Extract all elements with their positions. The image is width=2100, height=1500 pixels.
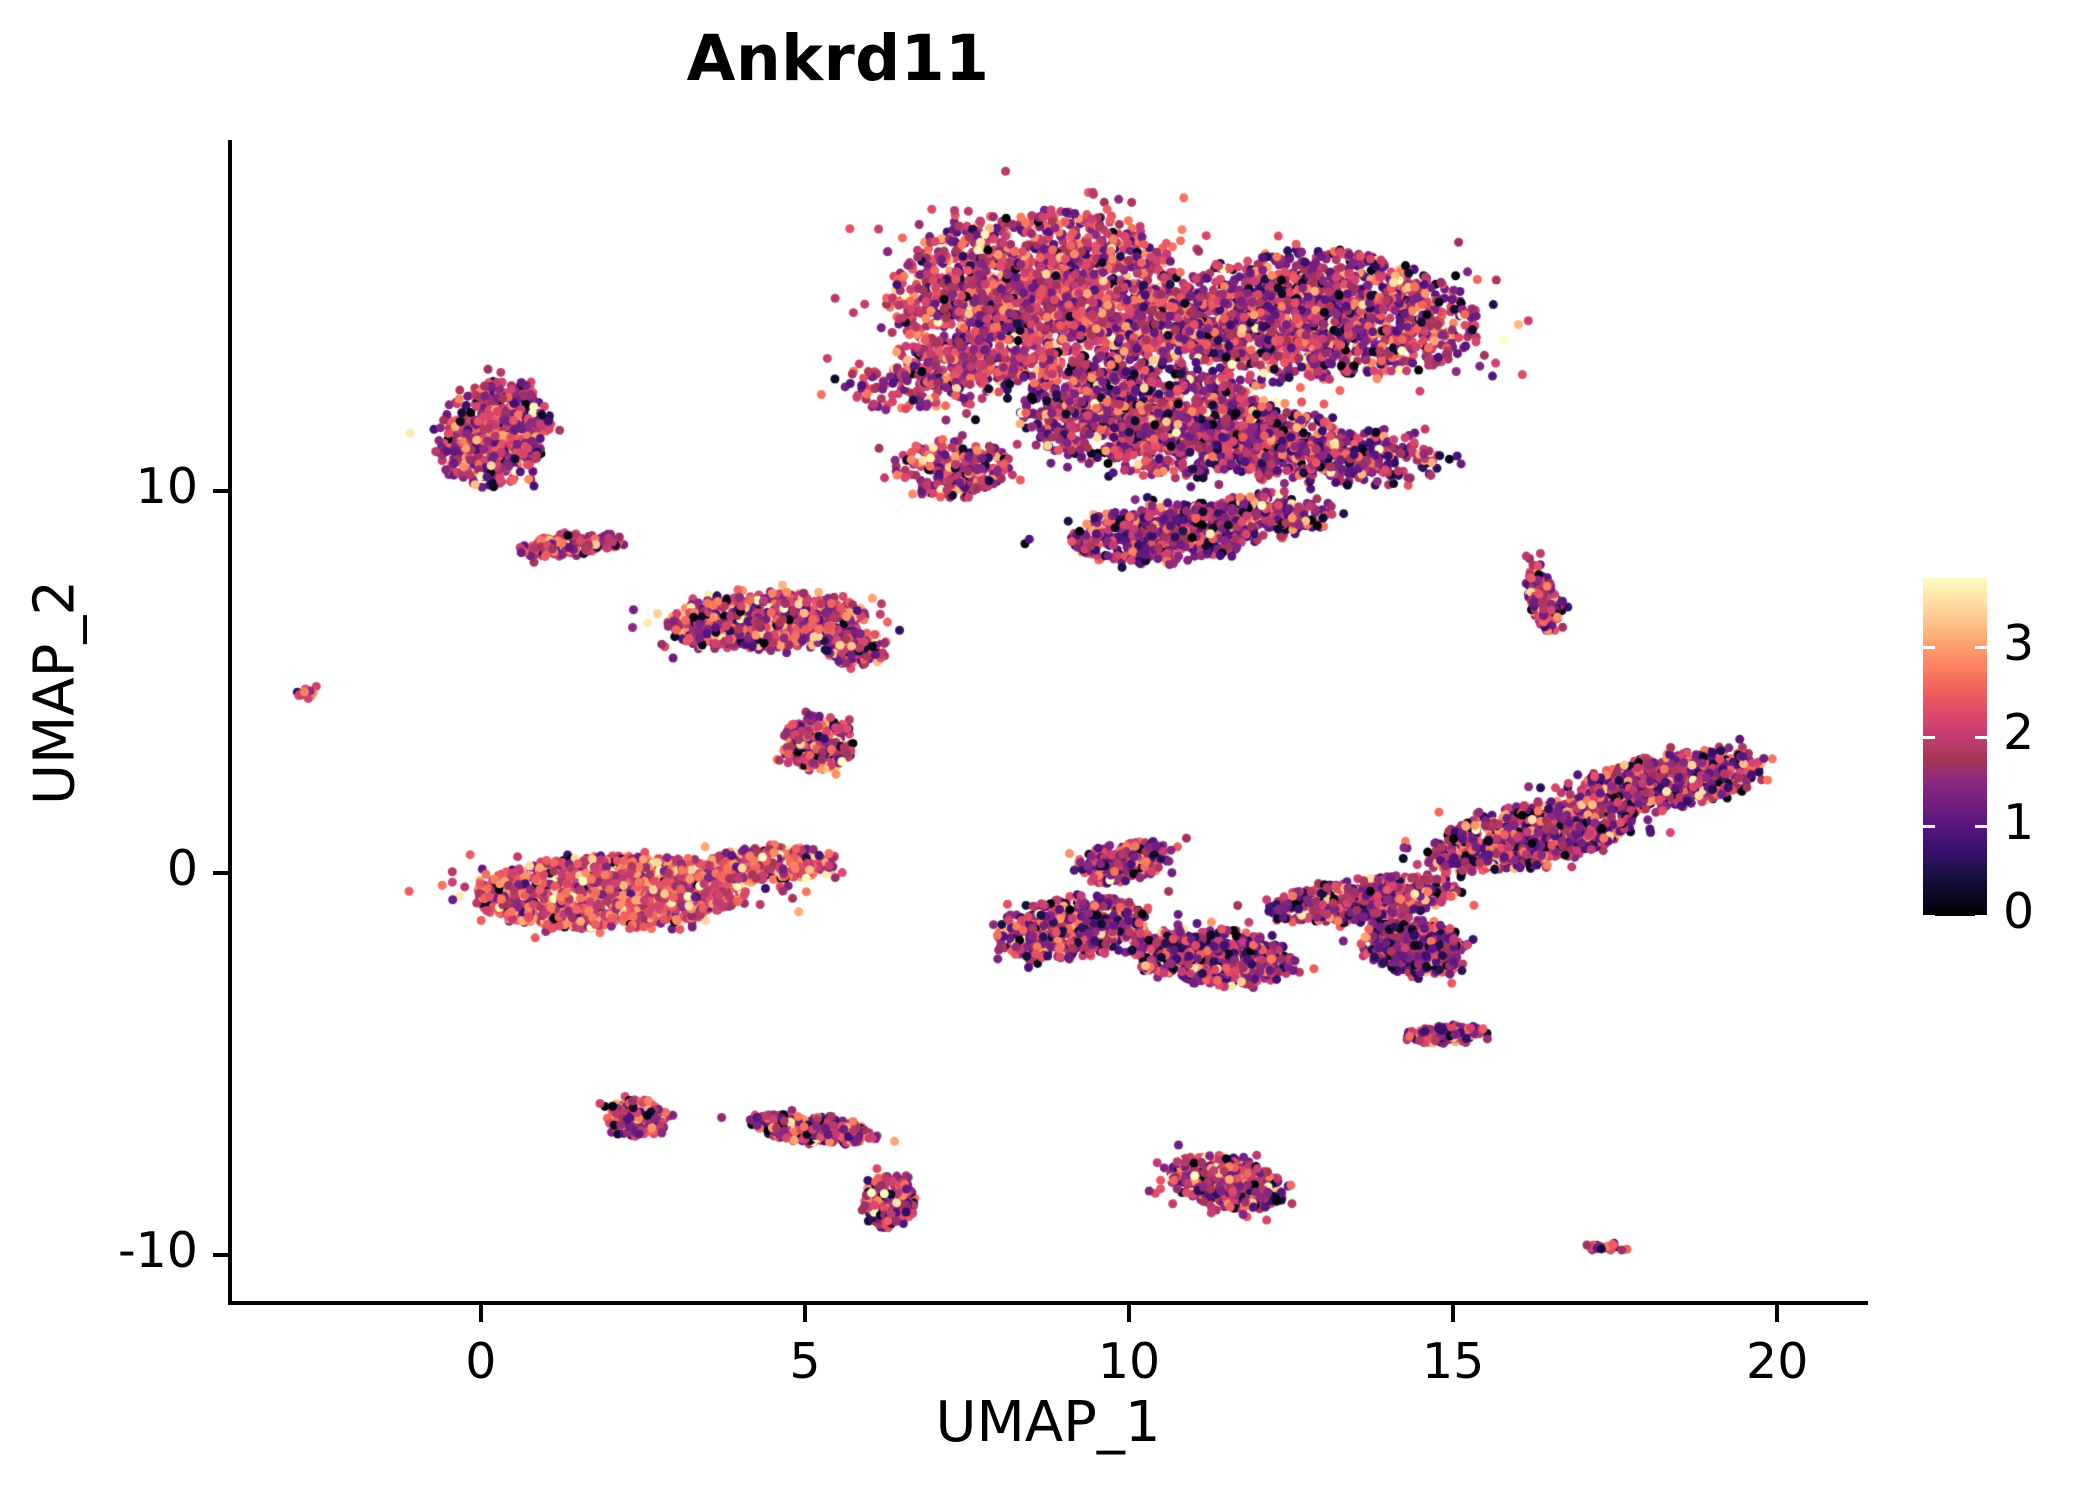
plot-axes	[228, 140, 1868, 1305]
colorbar-tick-mark	[1923, 736, 1935, 739]
x-tick-label: 0	[381, 1333, 581, 1390]
y-tick-mark	[213, 489, 230, 493]
x-tick-label: 5	[705, 1333, 905, 1390]
x-tick-mark	[1451, 1305, 1455, 1322]
x-tick-mark	[479, 1305, 483, 1322]
x-axis-spine	[228, 1301, 1868, 1305]
colorbar-tick-label: 0	[2003, 883, 2034, 940]
page-title: Ankrd11	[0, 22, 1888, 95]
colorbar-tick-mark	[1975, 646, 1987, 649]
colorbar-tick-label: 3	[2003, 615, 2034, 672]
y-tick-mark	[213, 871, 230, 875]
x-tick-mark	[1127, 1305, 1131, 1322]
colorbar-tick-label: 2	[2003, 704, 2034, 761]
umap-feature-plot-figure: Ankrd11 -10010 05101520 UMAP_1 UMAP_2 01…	[0, 0, 2100, 1500]
y-tick-label: -10	[13, 1222, 198, 1279]
y-axis-spine	[228, 140, 232, 1305]
colorbar: 0123	[1923, 578, 1987, 916]
x-axis-label: UMAP_1	[228, 1390, 1868, 1455]
x-tick-mark	[803, 1305, 807, 1322]
x-tick-label: 20	[1677, 1333, 1877, 1390]
colorbar-tick-mark	[1975, 915, 1987, 918]
colorbar-tick-mark	[1923, 646, 1935, 649]
y-tick-mark	[213, 1253, 230, 1257]
colorbar-tick-mark	[1923, 825, 1935, 828]
colorbar-tick-mark	[1975, 825, 1987, 828]
colorbar-gradient	[1923, 578, 1987, 916]
colorbar-tick-label: 1	[2003, 794, 2034, 851]
x-tick-label: 15	[1353, 1333, 1553, 1390]
x-tick-mark	[1775, 1305, 1779, 1322]
colorbar-tick-mark	[1923, 915, 1935, 918]
y-axis-label: UMAP_2	[23, 293, 88, 1093]
x-tick-label: 10	[1029, 1333, 1229, 1390]
colorbar-tick-mark	[1975, 736, 1987, 739]
scatter-points-canvas	[228, 140, 1868, 1305]
